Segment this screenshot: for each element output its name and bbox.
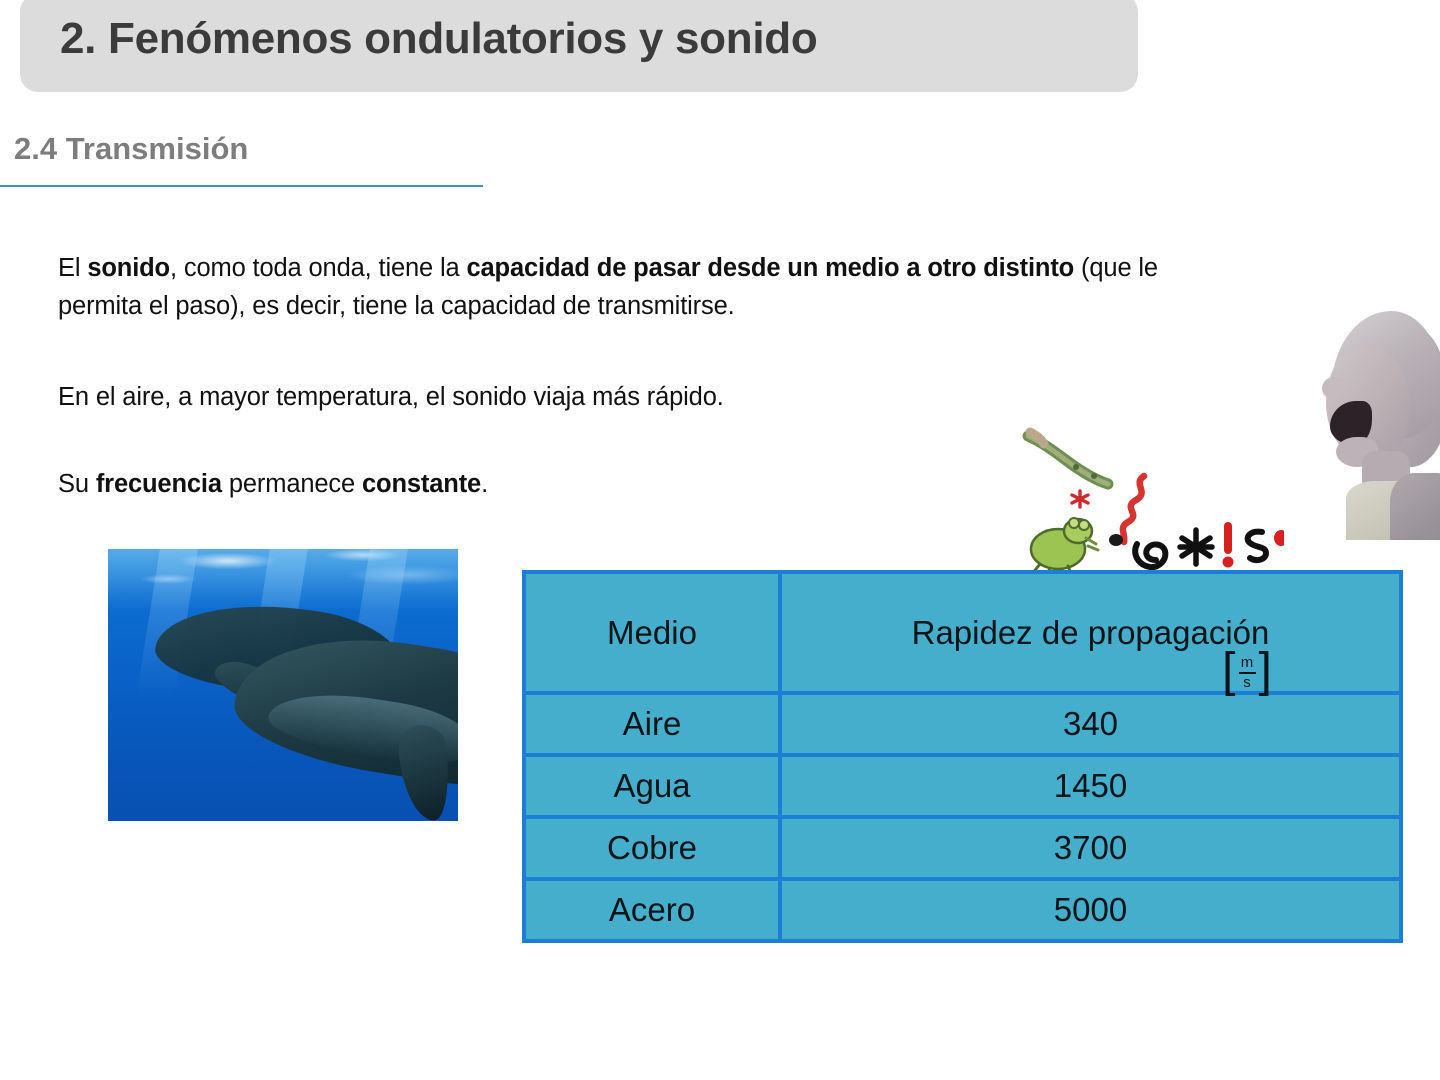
table-header-medio-label: Medio — [526, 614, 778, 652]
shouting-person-photo — [1318, 305, 1440, 540]
table-row: Cobre 3700 — [524, 817, 1401, 879]
paragraph-sound-transmission: El sonido, como toda onda, tiene la capa… — [58, 249, 1238, 325]
fraction-m-over-s: m s — [1236, 655, 1259, 691]
cell-medio: Acero — [524, 879, 780, 941]
cell-rapidez: 340 — [780, 693, 1401, 755]
red-asterisk-small-icon — [1072, 491, 1088, 507]
cell-rapidez: 1450 — [780, 755, 1401, 817]
green-snake-icon — [1028, 432, 1108, 484]
cell-rapidez: 3700 — [780, 817, 1401, 879]
unit-meters-per-second: [ m s ] — [1225, 645, 1269, 701]
green-frog-icon — [1031, 518, 1098, 578]
table-body: Medio Rapidez de propagación Aire 340 Ag… — [524, 572, 1401, 941]
shoulder — [1390, 473, 1440, 540]
nose — [1322, 377, 1344, 399]
red-dot-icon — [1274, 530, 1284, 546]
table-header-rapidez-label: Rapidez de propagación — [782, 614, 1399, 652]
unit-numerator: m — [1241, 655, 1254, 672]
cell-medio: Cobre — [524, 817, 780, 879]
black-s-squiggle-icon — [1248, 532, 1266, 560]
section-heading: 2.4 Transmisión — [14, 131, 248, 167]
table-row: Agua 1450 — [524, 755, 1401, 817]
page-title: 2. Fenómenos ondulatorios y sonido — [60, 14, 817, 64]
paragraph-frequency-constant: Su frecuencia permanece constante. — [58, 465, 1058, 503]
table-row: Acero 5000 — [524, 879, 1401, 941]
table-header-medio: Medio — [524, 572, 780, 693]
cell-rapidez: 5000 — [780, 879, 1401, 941]
black-dot-icon — [1109, 534, 1123, 546]
black-asterisk-icon — [1180, 530, 1212, 564]
red-exclamation-icon — [1223, 522, 1234, 568]
red-squiggle-icon — [1123, 476, 1144, 542]
whale-underwater-photo — [108, 549, 458, 821]
paragraph-air-temperature: En el aire, a mayor temperatura, el soni… — [58, 378, 1058, 416]
table-row: Aire 340 — [524, 693, 1401, 755]
section-underline-rule — [0, 185, 483, 187]
black-spiral-icon — [1135, 544, 1165, 567]
unit-denominator: s — [1243, 674, 1251, 691]
cell-medio: Aire — [524, 693, 780, 755]
table-header-rapidez: Rapidez de propagación — [780, 572, 1401, 693]
cell-medio: Agua — [524, 755, 780, 817]
propagation-speed-table: Medio Rapidez de propagación Aire 340 Ag… — [522, 570, 1403, 943]
